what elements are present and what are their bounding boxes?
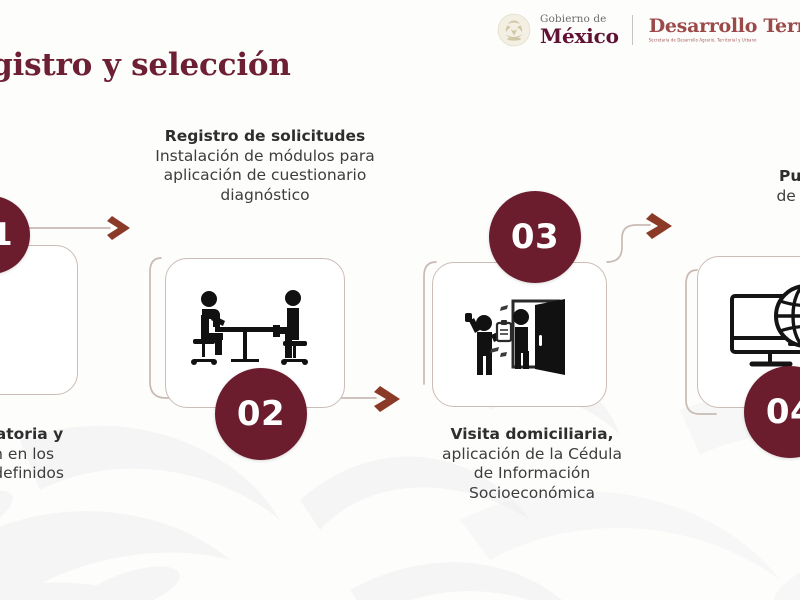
step-01-card-tail	[9, 394, 43, 411]
brand-divider	[632, 15, 633, 45]
step-03-caption-line3: Socioeconómica	[407, 484, 657, 504]
step-04-caption-line1: de resultados	[714, 187, 800, 207]
two-people-at-desk-icon	[185, 285, 325, 381]
step-03-caption: Visita domiciliaria, aplicación de la Cé…	[407, 425, 657, 503]
step-02-caption-line3: diagnóstico	[110, 186, 420, 206]
step-02-badge: 02	[215, 368, 307, 460]
step-03-caption-heading: Visita domiciliaria,	[407, 425, 657, 445]
step-02-caption: Registro de solicitudes Instalación de m…	[110, 127, 420, 205]
step-02-caption-line1: Instalación de módulos para	[110, 147, 420, 167]
page-title: Registro y selección	[0, 47, 291, 83]
step-01-caption: Convocatoria y difusión en los medios de…	[0, 425, 88, 484]
brand-department-text: Desarrollo Territorial Secretaría de Des…	[649, 17, 800, 43]
brand-government-text: Gobierno de México	[540, 14, 619, 46]
step-02-card-tail-up	[224, 242, 258, 259]
step-03-caption-line1: aplicación de la Cédula	[407, 445, 657, 465]
brand-lockup: Gobierno de México Desarrollo Territoria…	[497, 10, 800, 50]
slide-canvas: Gobierno de México Desarrollo Territoria…	[0, 0, 800, 600]
step-card-03[interactable]	[432, 262, 607, 407]
mexican-coat-of-arms-icon	[497, 13, 531, 47]
step-01-icon-wrap	[0, 246, 77, 394]
step-03-caption-line2: de Información	[407, 464, 657, 484]
arrow-02-to-03-icon	[374, 386, 400, 412]
flow-connectors	[0, 0, 800, 600]
brand-department-main: Desarrollo Territorial	[649, 17, 800, 36]
step-03-card-tail-down	[503, 406, 537, 423]
brand-government-big: México	[540, 26, 619, 46]
home-visit-doorway-icon	[455, 289, 585, 381]
megaphone-and-envelope-icon	[0, 274, 38, 366]
step-04-caption: Publicación de resultados	[714, 167, 800, 206]
arrow-01-to-02-icon	[107, 216, 130, 240]
step-01-caption-line3: medios definidos	[0, 464, 88, 484]
step-01-caption-line2: difusión en los	[0, 445, 88, 465]
brand-department-sub: Secretaría de Desarrollo Agrario, Territ…	[649, 39, 800, 43]
arrow-03-to-04-icon	[646, 213, 672, 239]
step-02-caption-heading: Registro de solicitudes	[110, 127, 420, 147]
step-04-caption-heading: Publicación	[714, 167, 800, 187]
step-02-caption-line2: aplicación de cuestionario	[110, 166, 420, 186]
step-03-badge: 03	[489, 191, 581, 283]
step-04-card-tail-up	[738, 240, 772, 257]
step-01-caption-line1: Convocatoria y	[0, 425, 88, 445]
step-03-icon-wrap	[433, 263, 606, 406]
